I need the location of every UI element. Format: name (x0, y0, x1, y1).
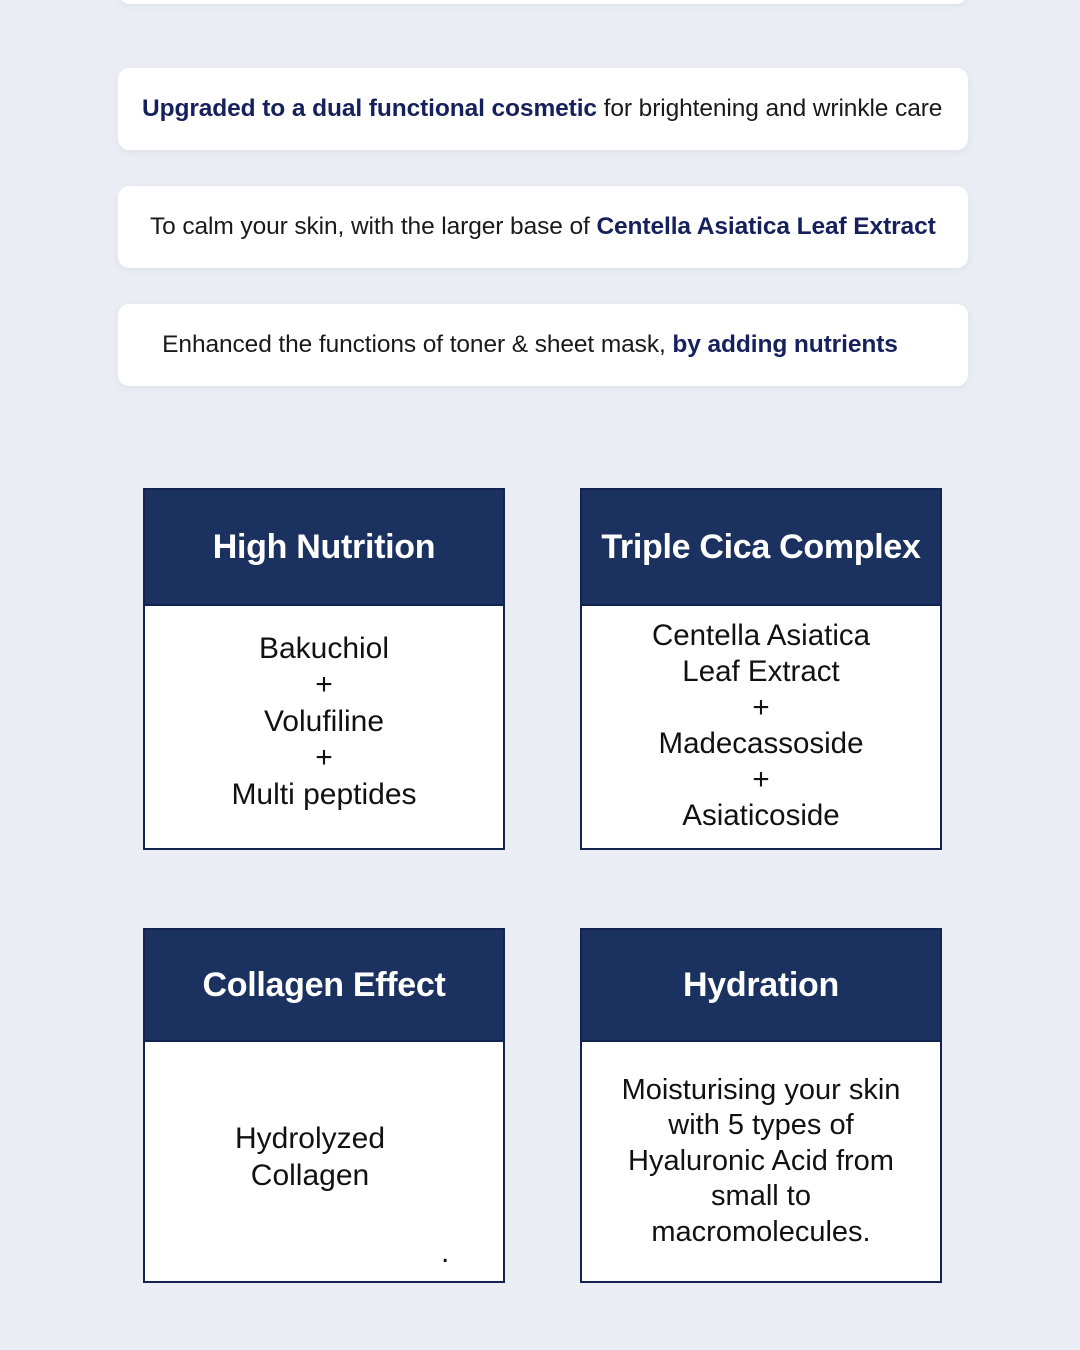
banner-enhanced-text: Enhanced the functions of toner & sheet … (118, 330, 968, 359)
card-collagen-effect-ingredients: Hydrolyzed Collagen (235, 1121, 385, 1194)
banner-upgraded-rest: for brightening and wrinkle care (597, 95, 942, 122)
top-partial-card (118, 0, 968, 4)
banner-enhanced-highlight: by adding nutrients (672, 331, 897, 358)
banner-calm-skin: To calm your skin, with the larger base … (118, 186, 968, 268)
card-hydration: Hydration Moisturising your skin with 5 … (580, 928, 942, 1283)
card-hydration-body: Moisturising your skin with 5 types of H… (582, 1040, 940, 1281)
card-high-nutrition: High Nutrition Bakuchiol + Volufiline + … (143, 488, 505, 850)
banner-list: Upgraded to a dual functional cosmetic f… (118, 68, 968, 422)
card-triple-cica-body: Centella Asiatica Leaf Extract + Madecas… (582, 604, 940, 848)
feature-card-grid: High Nutrition Bakuchiol + Volufiline + … (143, 488, 942, 1283)
card-triple-cica-ingredients: Centella Asiatica Leaf Extract + Madecas… (652, 618, 870, 834)
card-hydration-title: Hydration (582, 930, 940, 1040)
card-high-nutrition-body: Bakuchiol + Volufiline + Multi peptides (145, 604, 503, 848)
card-high-nutrition-ingredients: Bakuchiol + Volufiline + Multi peptides (231, 631, 416, 814)
card-triple-cica: Triple Cica Complex Centella Asiatica Le… (580, 488, 942, 850)
card-collagen-effect-stray-mark: . (441, 1238, 449, 1268)
banner-calm-skin-text: To calm your skin, with the larger base … (118, 212, 968, 241)
banner-upgraded: Upgraded to a dual functional cosmetic f… (118, 68, 968, 150)
banner-upgraded-text: Upgraded to a dual functional cosmetic f… (118, 94, 968, 123)
banner-enhanced: Enhanced the functions of toner & sheet … (118, 304, 968, 386)
card-collagen-effect-title: Collagen Effect (145, 930, 503, 1040)
banner-upgraded-highlight: Upgraded to a dual functional cosmetic (142, 95, 597, 122)
card-collagen-effect-body: Hydrolyzed Collagen . (145, 1040, 503, 1281)
card-triple-cica-title: Triple Cica Complex (582, 490, 940, 604)
card-collagen-effect: Collagen Effect Hydrolyzed Collagen . (143, 928, 505, 1283)
card-high-nutrition-title: High Nutrition (145, 490, 503, 604)
banner-enhanced-lead: Enhanced the functions of toner & sheet … (162, 331, 672, 358)
card-hydration-description: Moisturising your skin with 5 types of H… (622, 1073, 901, 1250)
banner-calm-skin-highlight: Centella Asiatica Leaf Extract (596, 213, 935, 240)
banner-calm-skin-lead: To calm your skin, with the larger base … (150, 213, 596, 240)
